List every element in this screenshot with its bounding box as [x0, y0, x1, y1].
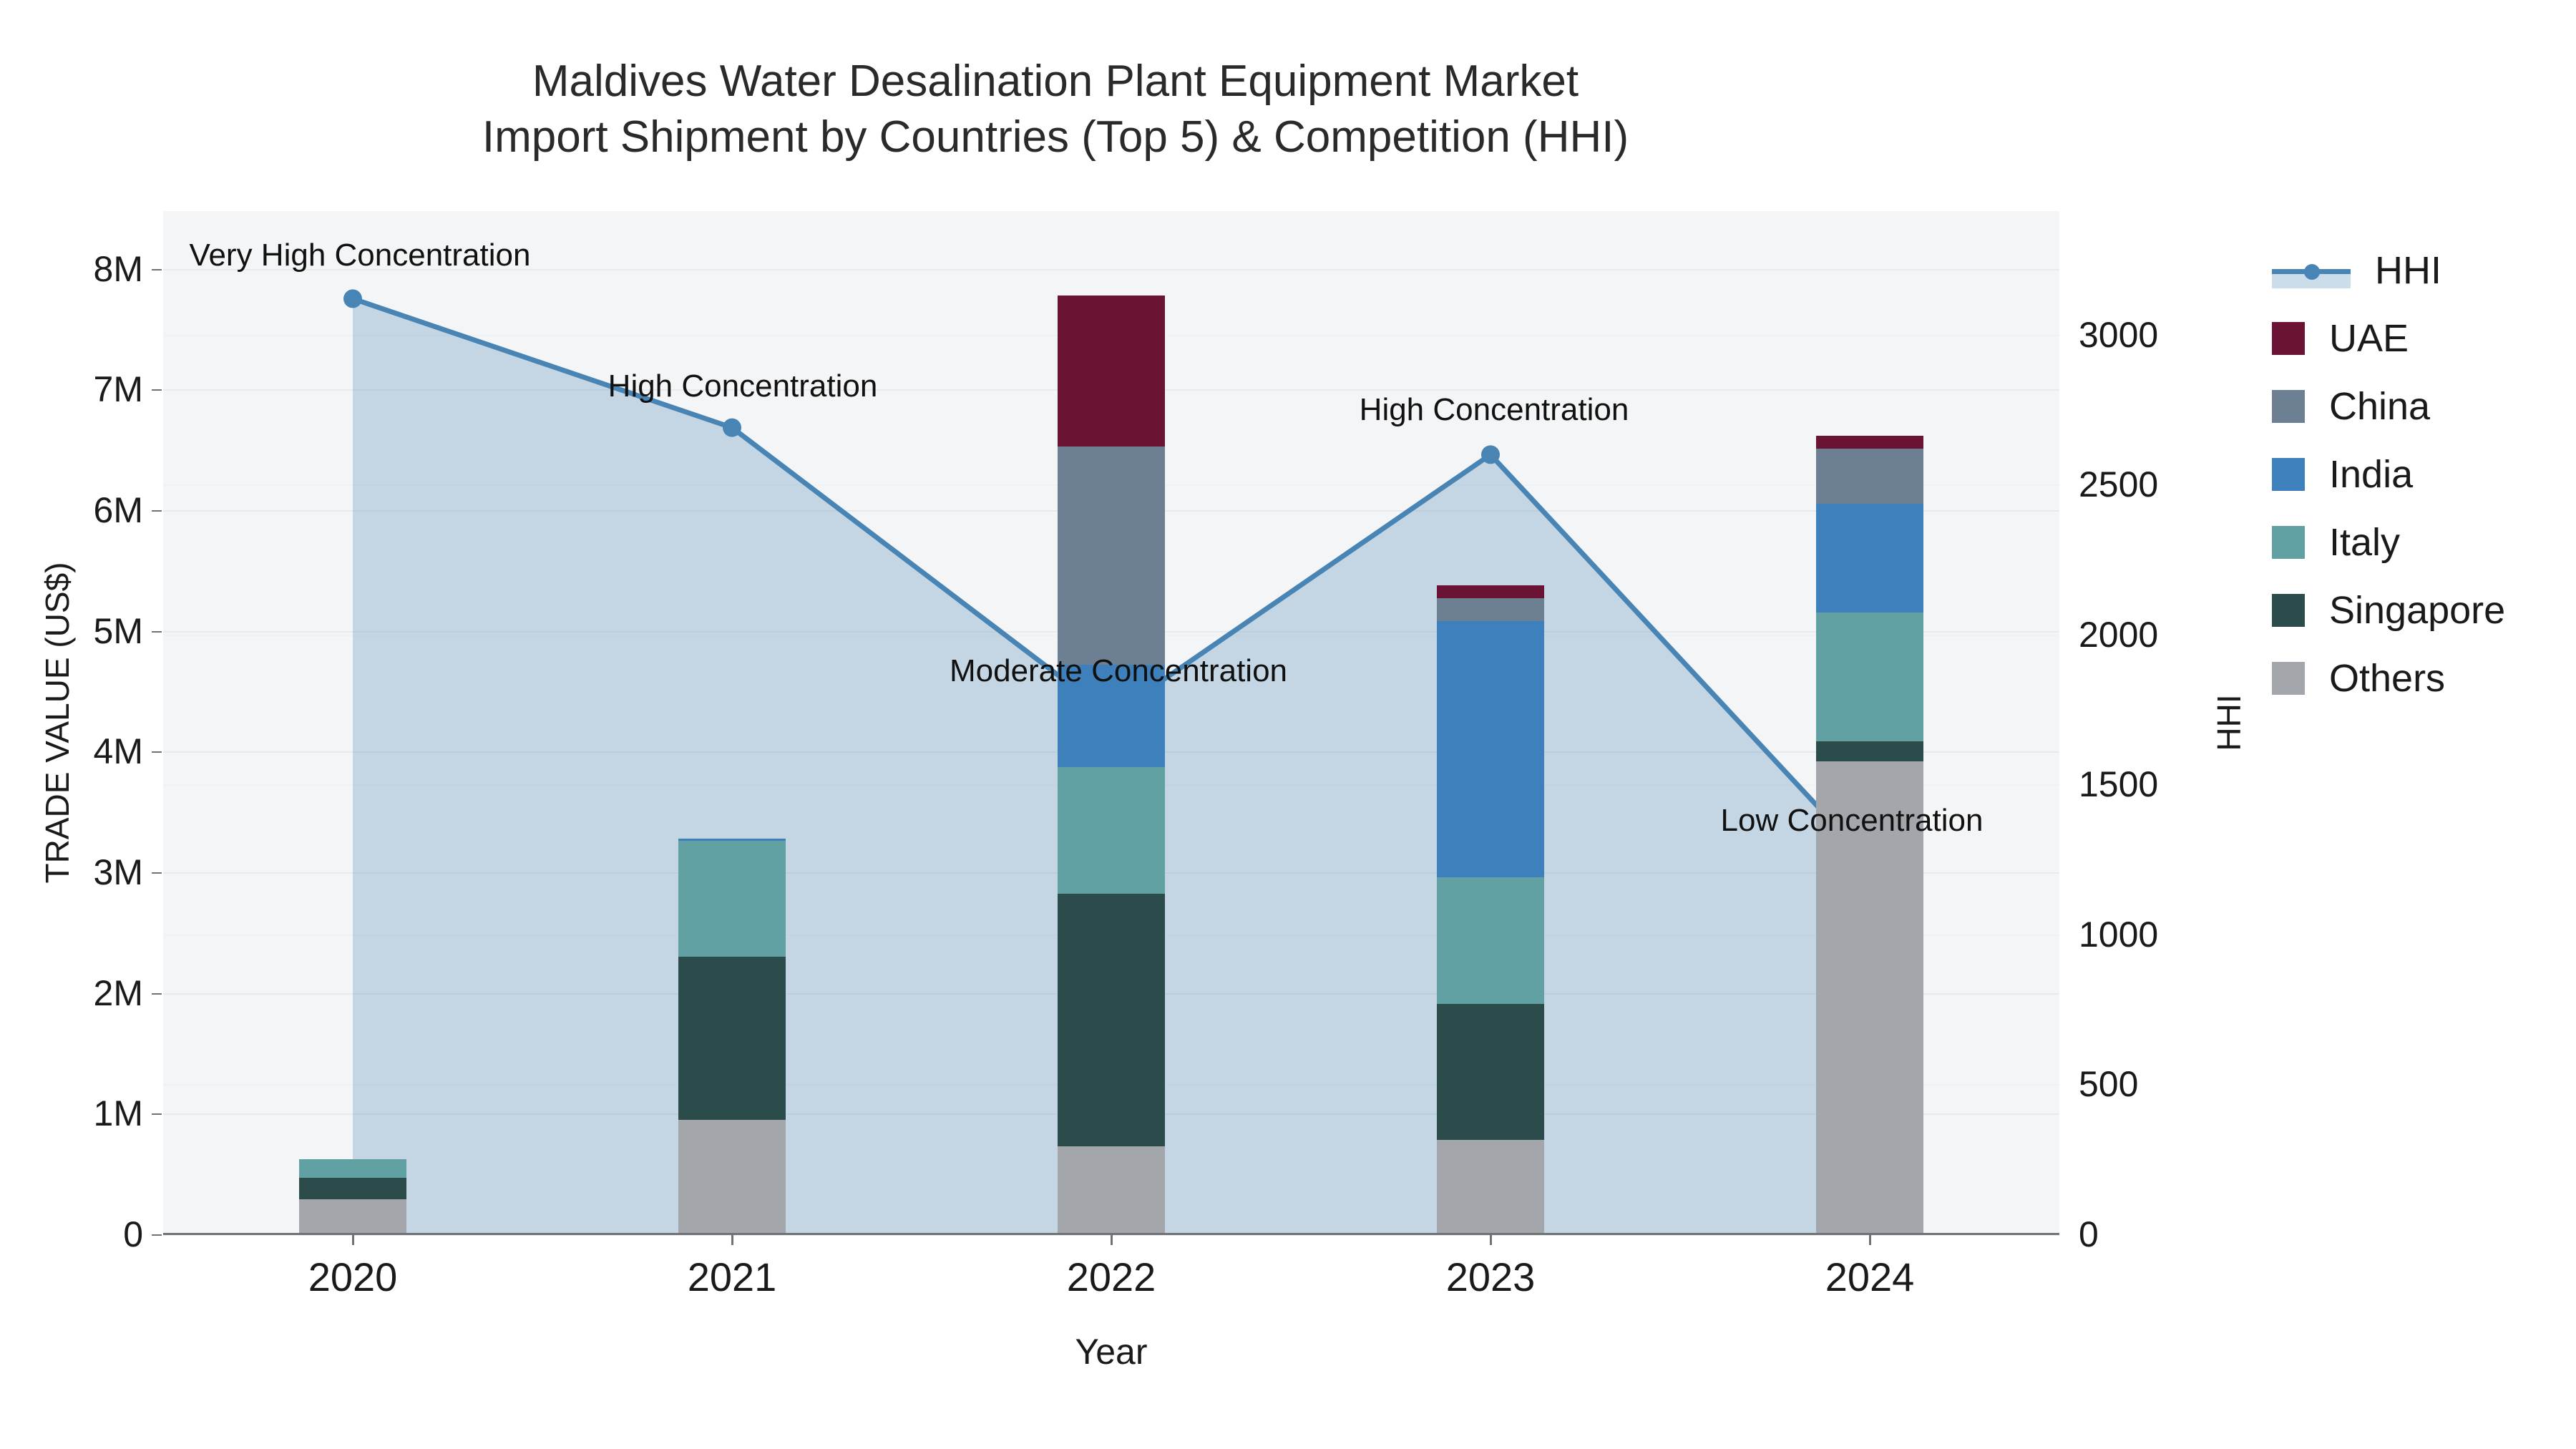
y-tick-mark — [152, 993, 162, 995]
y-axis-left-title: TRADE VALUE (US$) — [38, 472, 77, 973]
x-tick-mark — [731, 1235, 733, 1245]
y-axis-left-title-wrap: TRADE VALUE (US$) — [14, 211, 57, 1234]
legend-label-india: India — [2329, 452, 2413, 497]
legend-label-china: China — [2329, 384, 2430, 429]
bar-segment-singapore[interactable] — [1058, 894, 1165, 1146]
y-tick-mark — [152, 389, 162, 391]
legend-swatch-uae — [2272, 322, 2305, 355]
x-tick-label-2023: 2023 — [1383, 1254, 1598, 1300]
plot-area — [163, 211, 2059, 1234]
annotation-low-concentration: Low Concentration — [1721, 803, 1984, 839]
x-tick-mark — [1869, 1235, 1871, 1245]
legend: HHIUAEChinaIndiaItalySingaporeOthers — [2272, 236, 2505, 712]
bar-segment-china[interactable] — [1816, 449, 1923, 504]
bar-segment-italy[interactable] — [1058, 767, 1165, 894]
y2-tick-label: 1000 — [2079, 914, 2158, 955]
annotation-high-concentration: High Concentration — [608, 369, 878, 404]
bar-segment-singapore[interactable] — [1816, 741, 1923, 761]
chart-root: Maldives Water Desalination Plant Equipm… — [0, 0, 2576, 1449]
legend-line-marker-icon — [2272, 254, 2351, 287]
bar-segment-italy[interactable] — [299, 1159, 406, 1177]
bar-segment-italy[interactable] — [1816, 613, 1923, 741]
legend-label-others: Others — [2329, 656, 2445, 701]
annotation-moderate-concentration: Moderate Concentration — [950, 653, 1287, 689]
y2-tick-label: 2500 — [2079, 464, 2158, 505]
bar-segment-uae[interactable] — [1058, 296, 1165, 447]
legend-swatch-china — [2272, 390, 2305, 423]
y2-tick-label: 3000 — [2079, 314, 2158, 356]
bar-layer — [163, 245, 2059, 1234]
legend-swatch-italy — [2272, 526, 2305, 559]
bar-segment-others[interactable] — [1058, 1146, 1165, 1234]
annotation-high-concentration: High Concentration — [1360, 392, 1629, 428]
y-axis-right-title: HHI — [2210, 472, 2248, 973]
bar-segment-india[interactable] — [1437, 621, 1544, 877]
bar-segment-china[interactable] — [1058, 447, 1165, 665]
bar-segment-italy[interactable] — [1437, 877, 1544, 1004]
bar-segment-others[interactable] — [299, 1199, 406, 1234]
y-tick-mark — [152, 872, 162, 874]
bar-segment-uae[interactable] — [1816, 436, 1923, 449]
bar-segment-others[interactable] — [678, 1120, 786, 1234]
legend-label-singapore: Singapore — [2329, 588, 2505, 633]
y2-tick-label: 1500 — [2079, 763, 2158, 805]
y-tick-mark — [152, 631, 162, 633]
x-tick-mark — [1111, 1235, 1113, 1245]
x-tick-mark — [352, 1235, 354, 1245]
x-tick-label-2021: 2021 — [625, 1254, 839, 1300]
y-axis-right-title-wrap: HHI — [2207, 211, 2250, 1234]
legend-item-others[interactable]: Others — [2272, 644, 2505, 712]
legend-swatch-others — [2272, 662, 2305, 695]
chart-title: Maldives Water Desalination Plant Equipm… — [0, 54, 2111, 165]
x-tick-label-2022: 2022 — [1004, 1254, 1219, 1300]
plot-canvas — [163, 245, 2059, 1234]
x-axis-title: Year — [163, 1331, 2059, 1372]
y-tick-mark — [152, 1113, 162, 1115]
x-tick-label-2024: 2024 — [1762, 1254, 1977, 1300]
y2-tick-label: 2000 — [2079, 614, 2158, 655]
legend-label-hhi: HHI — [2375, 248, 2441, 293]
y2-tick-label: 0 — [2079, 1214, 2099, 1255]
bar-2023[interactable] — [1437, 585, 1544, 1234]
x-tick-mark — [1490, 1235, 1492, 1245]
chart-title-line2: Import Shipment by Countries (Top 5) & C… — [0, 109, 2111, 165]
y2-tick-label: 500 — [2079, 1063, 2138, 1105]
y-tick-mark — [152, 751, 162, 753]
legend-item-china[interactable]: China — [2272, 372, 2505, 440]
legend-item-uae[interactable]: UAE — [2272, 304, 2505, 372]
bar-2022[interactable] — [1058, 296, 1165, 1234]
bar-segment-singapore[interactable] — [299, 1178, 406, 1199]
legend-item-singapore[interactable]: Singapore — [2272, 576, 2505, 644]
bar-2020[interactable] — [299, 1159, 406, 1234]
legend-item-hhi[interactable]: HHI — [2272, 236, 2505, 304]
bar-segment-singapore[interactable] — [678, 957, 786, 1120]
x-tick-label-2020: 2020 — [245, 1254, 460, 1300]
y-tick-mark — [152, 510, 162, 512]
bar-segment-others[interactable] — [1437, 1140, 1544, 1234]
y-tick-mark — [152, 269, 162, 270]
bar-segment-china[interactable] — [1437, 598, 1544, 621]
legend-item-italy[interactable]: Italy — [2272, 508, 2505, 576]
bar-segment-uae[interactable] — [1437, 585, 1544, 599]
legend-label-uae: UAE — [2329, 316, 2409, 361]
legend-label-italy: Italy — [2329, 520, 2400, 565]
y-tick-mark — [152, 1234, 162, 1236]
legend-item-india[interactable]: India — [2272, 440, 2505, 508]
chart-title-line1: Maldives Water Desalination Plant Equipm… — [0, 54, 2111, 109]
bar-segment-italy[interactable] — [678, 841, 786, 957]
bar-2021[interactable] — [678, 839, 786, 1234]
bar-segment-singapore[interactable] — [1437, 1004, 1544, 1141]
legend-swatch-singapore — [2272, 594, 2305, 627]
legend-swatch-india — [2272, 458, 2305, 491]
annotation-very-high-concentration: Very High Concentration — [190, 238, 531, 273]
bar-segment-india[interactable] — [1816, 504, 1923, 613]
